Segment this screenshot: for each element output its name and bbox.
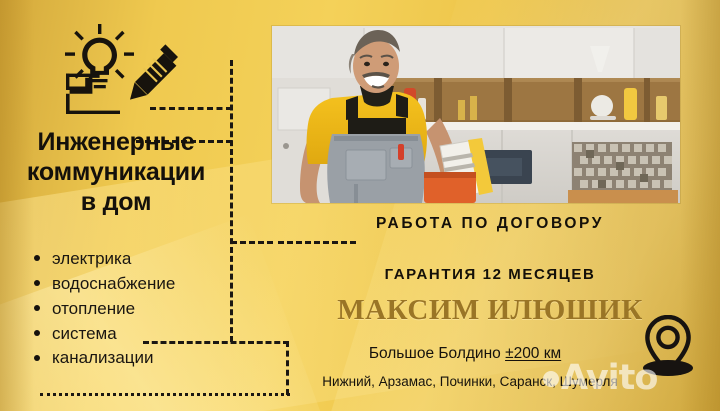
dashed-line-under-contract [278,241,356,244]
list-item-continuation: канализации [26,346,241,370]
toolbox [424,172,476,203]
pencil-icon [130,44,178,99]
worker-photo [272,26,680,203]
master-name: МАКСИМ ИЛЮШИК [300,294,680,327]
map-pin-svg [640,315,696,377]
page-title: Инженерные коммуникации в дом [0,127,232,217]
location-cities: Нижний, Арзамас, Починки, Саранск, Шумер… [290,374,650,389]
idea-drawing-icon-group [56,22,206,118]
headline-line-1: Инженерные [0,127,232,157]
list-item: водоснабжение [26,271,241,296]
list-item: система [26,321,241,346]
dashed-line-horizontal-mid [231,241,273,244]
location-city: Большое Болдино [369,345,505,362]
location-primary-row: Большое Болдино ±200 км [300,345,630,363]
services-list: электрика водоснабжение отопление систем… [26,246,241,370]
map-pin-icon [640,315,696,377]
advertisement-banner: Инженерные коммуникации в дом электрика … [0,0,720,411]
contract-text: РАБОТА ПО ДОГОВОРУ [310,215,670,233]
list-item: электрика [26,246,241,271]
dashed-line-horizontal-upper [150,107,232,110]
worker-photo-illustration [272,26,680,203]
headline-line-3: в дом [0,187,232,217]
dashed-line-vertical-lower-right [286,341,289,395]
list-item: отопление [26,296,241,321]
lightbulb-icon [65,24,134,88]
location-radius: ±200 км [505,345,561,362]
dotted-line-bottom [40,393,290,396]
headline-line-2: коммуникации [0,157,232,187]
mosaic-backsplash [572,142,672,194]
lightbulb-pencil-svg [56,22,206,118]
warranty-text: ГАРАНТИЯ 12 МЕСЯЦЕВ [310,266,670,283]
